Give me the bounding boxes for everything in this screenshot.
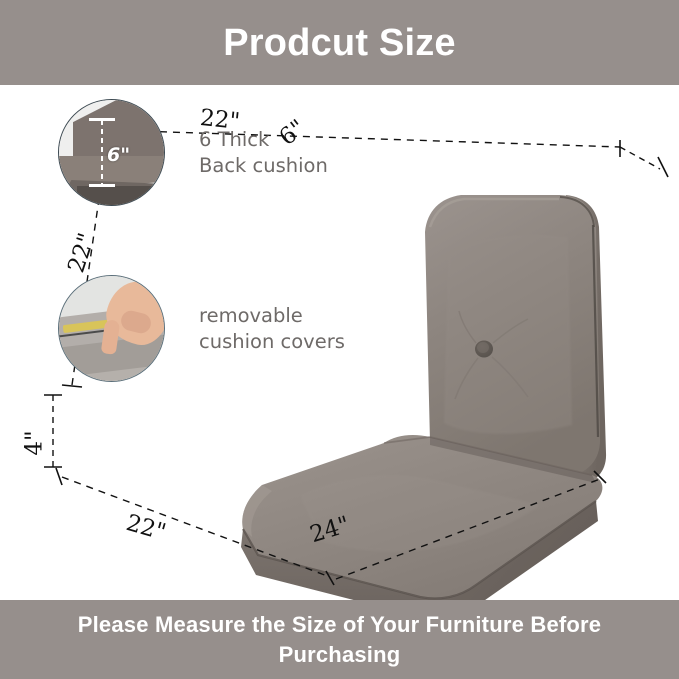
feature-covers-label: removable cushion covers <box>199 303 345 354</box>
feature-thickness-label: 6 Thick Back cushion <box>199 127 328 178</box>
zipper-hand-photo-icon <box>58 275 165 382</box>
main-illustration-area: 22" 6" 22" 4" 22" 24" 6" 6 Thick Back cu… <box>0 85 679 600</box>
dimension-label-seat-thickness: 4" <box>22 430 48 455</box>
back-cushion-thickness-photo-icon: 6" <box>58 99 165 206</box>
page-title: Prodcut Size <box>223 24 456 62</box>
feature-back-cushion-thickness: 6" 6 Thick Back cushion <box>58 99 328 206</box>
header-banner: Prodcut Size <box>0 0 679 85</box>
footer-message: Please Measure the Size of Your Furnitur… <box>0 610 679 668</box>
photo-dimension-value: 6" <box>107 144 130 166</box>
feature-removable-covers: removable cushion covers <box>58 275 345 382</box>
footer-banner: Please Measure the Size of Your Furnitur… <box>0 600 679 679</box>
